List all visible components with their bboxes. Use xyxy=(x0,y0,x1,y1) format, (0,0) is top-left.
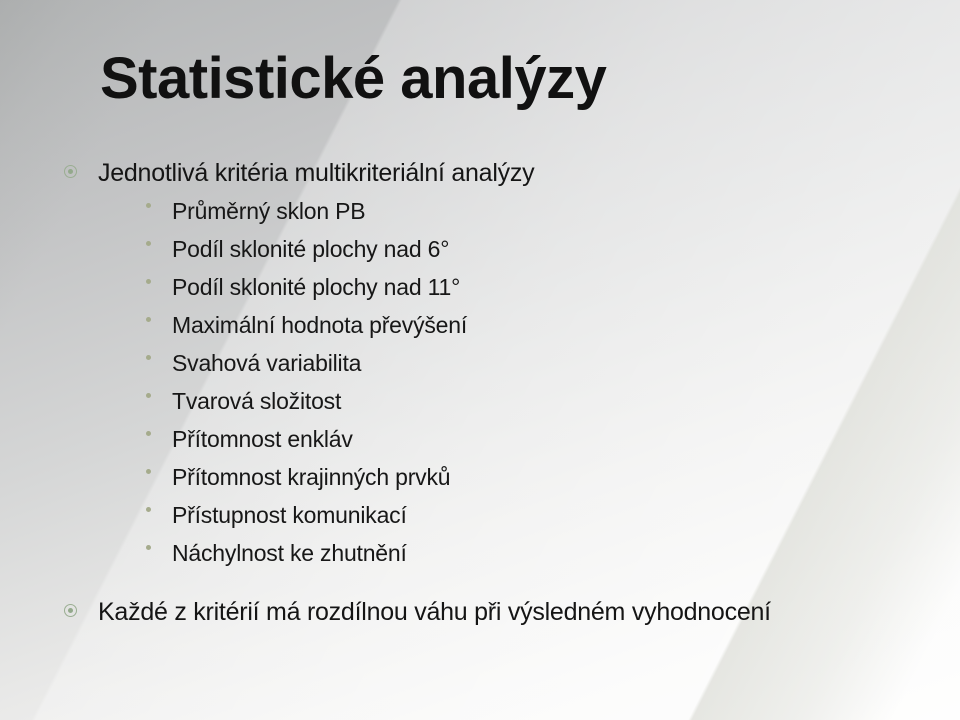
dot-bullet-icon xyxy=(146,499,172,512)
list-item: Maximální hodnota převýšení xyxy=(64,309,932,342)
slide-content: Statistické analýzy Jednotlivá kritéria … xyxy=(0,0,960,720)
dot-bullet-icon xyxy=(146,385,172,398)
list-item-label: Podíl sklonité plochy nad 11° xyxy=(172,271,460,304)
presentation-slide: Statistické analýzy Jednotlivá kritéria … xyxy=(0,0,960,720)
dot-bullet-icon xyxy=(146,233,172,246)
list-item: Průměrný sklon PB xyxy=(64,195,932,228)
list-item-label: Přístupnost komunikací xyxy=(172,499,407,532)
ring-bullet-icon xyxy=(64,156,98,178)
list-item: Každé z kritérií má rozdílnou váhu při v… xyxy=(64,595,932,629)
ring-bullet-icon xyxy=(64,595,98,617)
dot-bullet-icon xyxy=(146,195,172,208)
dot-bullet-icon xyxy=(146,309,172,322)
list-item-label: Tvarová složitost xyxy=(172,385,341,418)
list-item-label: Podíl sklonité plochy nad 6° xyxy=(172,233,449,266)
list-item: Tvarová složitost xyxy=(64,385,932,418)
list-item-label: Přítomnost enkláv xyxy=(172,423,353,456)
list-item: Podíl sklonité plochy nad 11° xyxy=(64,271,932,304)
list-item: Přítomnost krajinných prvků xyxy=(64,461,932,494)
list-item: Náchylnost ke zhutnění xyxy=(64,537,932,570)
slide-title: Statistické analýzy xyxy=(100,47,606,112)
list-item-label: Svahová variabilita xyxy=(172,347,361,380)
list-item: Podíl sklonité plochy nad 6° xyxy=(64,233,932,266)
dot-bullet-icon xyxy=(146,461,172,474)
list-item-label: Náchylnost ke zhutnění xyxy=(172,537,407,570)
list-item-label: Průměrný sklon PB xyxy=(172,195,365,228)
dot-bullet-icon xyxy=(146,537,172,550)
list-item-label: Jednotlivá kritéria multikriteriální ana… xyxy=(98,156,534,190)
list-item: Přítomnost enkláv xyxy=(64,423,932,456)
list-item: Přístupnost komunikací xyxy=(64,499,932,532)
dot-bullet-icon xyxy=(146,347,172,360)
list-item-label: Přítomnost krajinných prvků xyxy=(172,461,450,494)
list-item-label: Maximální hodnota převýšení xyxy=(172,309,467,342)
list-item-label: Každé z kritérií má rozdílnou váhu při v… xyxy=(98,595,771,629)
list-spacer xyxy=(64,575,932,595)
list-item: Jednotlivá kritéria multikriteriální ana… xyxy=(64,156,932,190)
dot-bullet-icon xyxy=(146,271,172,284)
bullet-list: Jednotlivá kritéria multikriteriální ana… xyxy=(64,156,932,634)
list-item: Svahová variabilita xyxy=(64,347,932,380)
dot-bullet-icon xyxy=(146,423,172,436)
